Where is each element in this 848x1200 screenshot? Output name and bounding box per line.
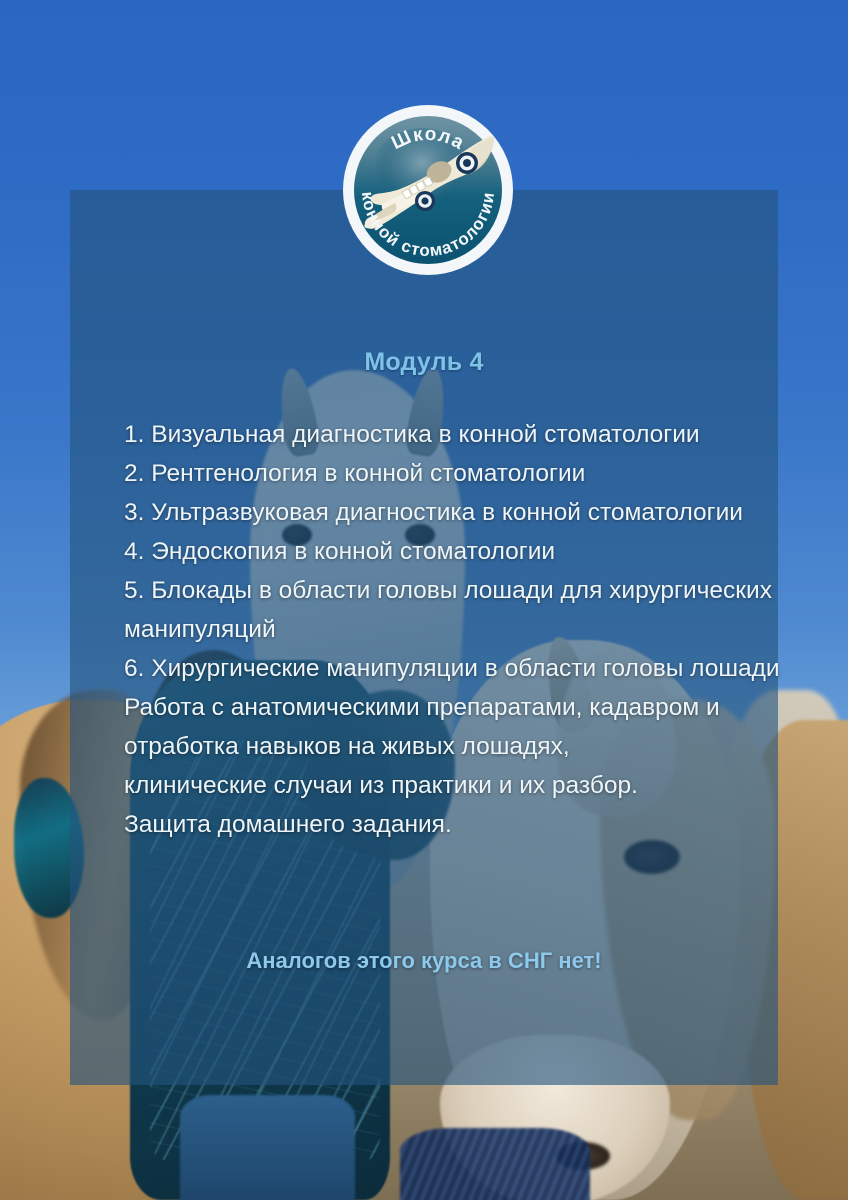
module-title: Модуль 4	[70, 348, 778, 377]
knitted-scarf	[400, 1128, 590, 1200]
poster-canvas: Модуль 4 1. Визуальная диагностика в кон…	[0, 0, 848, 1200]
school-logo: Школа конной стоматологии	[342, 104, 514, 276]
topic-item: 5. Блокады в области головы лошади для х…	[124, 571, 784, 649]
footnote-text: Аналогов этого курса в СНГ нет!	[70, 948, 778, 974]
marker-icon	[415, 191, 435, 211]
topic-item: 3. Ультразвуковая диагностика в конной с…	[124, 493, 784, 532]
topic-item: 2. Рентгенология в конной стоматологии	[124, 454, 784, 493]
topics-list: 1. Визуальная диагностика в конной стома…	[124, 415, 784, 844]
content-panel: Модуль 4 1. Визуальная диагностика в кон…	[70, 190, 778, 1085]
topic-item: клинические случаи из практики и их разб…	[124, 766, 784, 805]
topic-item: 1. Визуальная диагностика в конной стома…	[124, 415, 784, 454]
topic-item: 4. Эндоскопия в конной стоматологии	[124, 532, 784, 571]
marker-icon	[456, 152, 478, 174]
topic-item: Работа с анатомическими препаратами, кад…	[124, 688, 784, 766]
topic-item: Защита домашнего задания.	[124, 805, 784, 844]
topic-item: 6. Хирургические манипуляции в области г…	[124, 649, 784, 688]
handler-jeans	[180, 1095, 355, 1200]
horse-skull-emblem-icon: Школа конной стоматологии	[342, 104, 514, 276]
